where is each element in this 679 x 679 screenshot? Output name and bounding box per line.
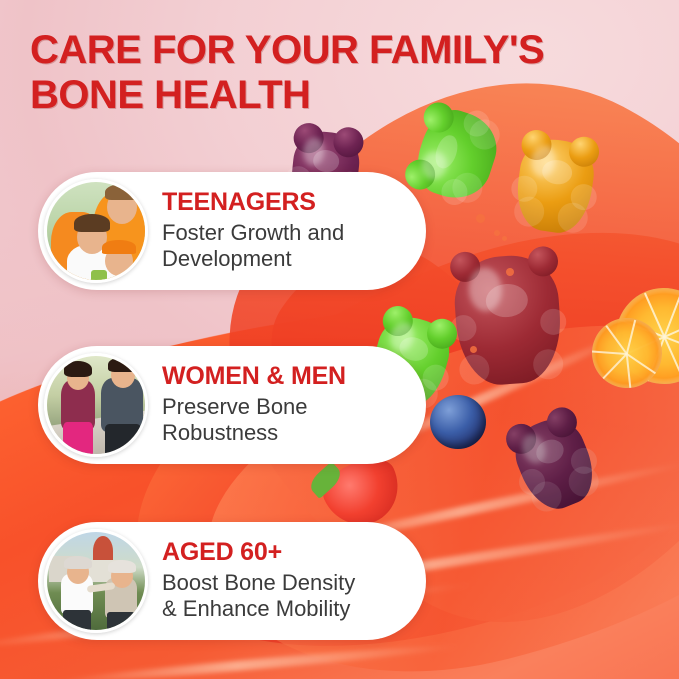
card-subtitle-women-men: Preserve Bone Robustness (162, 394, 346, 447)
card-title-women-men: WOMEN & MEN (162, 363, 346, 391)
women-men-photo (44, 353, 148, 457)
card-text-women-men: WOMEN & MEN Preserve Bone Robustness (148, 363, 362, 446)
splash-streak-5 (55, 641, 462, 679)
card-subtitle-aged-60-plus: Boost Bone Density & Enhance Mobility (162, 570, 355, 623)
benefit-card-women-men[interactable]: WOMEN & MEN Preserve Bone Robustness (38, 346, 426, 464)
card-title-aged-60-plus: AGED 60+ (162, 539, 355, 567)
gummy-bear-green-icon (409, 103, 506, 208)
orange-slice-icon (601, 273, 679, 400)
card-title-teenagers: TEENAGERS (162, 189, 344, 217)
juice-droplet-3 (502, 236, 507, 241)
blueberry-icon (430, 395, 486, 449)
juice-droplet-4 (506, 268, 514, 276)
gummy-bear-maroon-icon (452, 253, 565, 388)
page-title: CARE FOR YOUR FAMILY'S BONE HEALTH (30, 28, 650, 118)
juice-droplet-1 (476, 214, 485, 223)
benefit-card-aged-60-plus[interactable]: AGED 60+ Boost Bone Density & Enhance Mo… (38, 522, 426, 640)
orange-slice-small-icon (585, 311, 670, 396)
gummy-bear-dark-purple-icon (506, 410, 604, 518)
juice-droplet-2 (494, 230, 500, 236)
juice-droplet-5 (470, 346, 477, 353)
gummy-bear-amber-icon (512, 135, 598, 236)
card-text-teenagers: TEENAGERS Foster Growth and Development (148, 189, 360, 272)
card-subtitle-teenagers: Foster Growth and Development (162, 220, 344, 273)
benefit-card-teenagers[interactable]: TEENAGERS Foster Growth and Development (38, 172, 426, 290)
aged-60-plus-photo (44, 529, 148, 633)
teenagers-photo (44, 179, 148, 283)
poster-canvas: CARE FOR YOUR FAMILY'S BONE HEALTH TEENA… (0, 0, 679, 679)
card-text-aged-60-plus: AGED 60+ Boost Bone Density & Enhance Mo… (148, 539, 371, 622)
